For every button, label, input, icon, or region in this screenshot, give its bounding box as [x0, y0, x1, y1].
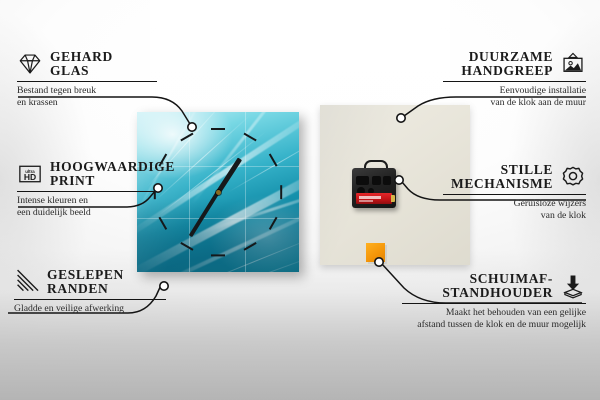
callout-divider — [17, 81, 157, 82]
callout-description: Intense kleuren en een duidelijk beeld — [17, 195, 157, 220]
callout-gehard-glas: GEHARD GLAS Bestand tegen breuk en krass… — [17, 50, 157, 110]
callout-schuimaf-standhouder: SCHUIMAF- STANDHOUDER Maakt het behouden… — [402, 272, 586, 332]
gear-icon — [560, 164, 586, 190]
callout-geslepen-randen: GESLEPEN RANDEN Gladde en veilige afwerk… — [14, 268, 166, 315]
callout-title-line1: GESLEPEN — [47, 268, 124, 282]
callout-titles: SCHUIMAF- STANDHOUDER — [442, 272, 553, 300]
callout-divider — [443, 81, 586, 82]
battery-label-stripe — [359, 196, 381, 199]
callout-title-line2: MECHANISME — [451, 177, 553, 191]
foam-spacer-icon — [560, 273, 586, 299]
mechanism-detail — [372, 176, 381, 185]
callout-description: Geruisloze wijzers van de klok — [443, 198, 586, 223]
clock-tick — [280, 185, 282, 199]
mechanism-detail — [356, 176, 369, 185]
callout-header: STILLE MECHANISME — [443, 163, 586, 191]
glass-wall-clock — [137, 112, 299, 272]
clock-center-hub — [216, 190, 221, 195]
callout-description: Bestand tegen breuk en krassen — [17, 85, 157, 110]
callout-title-line1: DUURZAME — [461, 50, 553, 64]
callout-description: Gladde en veilige afwerking — [14, 303, 166, 315]
callout-description: Maakt het behouden van een gelijke afsta… — [402, 307, 586, 332]
callout-title-line2: HANDGREEP — [461, 64, 553, 78]
clock-tick — [211, 128, 225, 130]
callout-title-line1: STILLE — [451, 163, 553, 177]
callout-stille-mechanisme: STILLE MECHANISME Geruisloze wijzers van… — [443, 163, 586, 223]
foam-spacer-pad — [366, 243, 385, 262]
callout-title-line2: GLAS — [50, 64, 113, 78]
callout-titles: DUURZAME HANDGREEP — [461, 50, 553, 78]
diamond-icon — [17, 51, 43, 77]
callout-title-line2: PRINT — [50, 174, 175, 188]
callout-title-line1: HOOGWAARDIGE — [50, 160, 175, 174]
mechanism-detail — [383, 176, 391, 185]
clock-tick — [211, 254, 225, 256]
callout-header: SCHUIMAF- STANDHOUDER — [402, 272, 586, 300]
aa-battery — [356, 193, 392, 204]
callout-header: GESLEPEN RANDEN — [14, 268, 166, 296]
callout-divider — [17, 191, 157, 192]
callout-title-line2: RANDEN — [47, 282, 124, 296]
ultra-hd-icon: ultra HD — [17, 161, 43, 187]
callout-description: Eenvoudige installatie van de klok aan d… — [443, 85, 586, 110]
callout-divider — [402, 303, 586, 304]
callout-header: GEHARD GLAS — [17, 50, 157, 78]
callout-title-line1: SCHUIMAF- — [442, 272, 553, 286]
polished-edges-icon — [14, 269, 40, 295]
infographic-canvas: GEHARD GLAS Bestand tegen breuk en krass… — [0, 0, 600, 400]
callout-title-line2: STANDHOUDER — [442, 286, 553, 300]
callout-divider — [14, 299, 166, 300]
callout-hoogwaardige-print: ultra HD HOOGWAARDIGE PRINT Intense kleu… — [17, 160, 157, 220]
battery-label-stripe — [359, 200, 373, 202]
callout-divider — [443, 194, 586, 195]
callout-titles: STILLE MECHANISME — [451, 163, 553, 191]
ultra-hd-icon-bottom-text: HD — [24, 172, 36, 182]
callout-titles: HOOGWAARDIGE PRINT — [50, 160, 175, 188]
battery-terminal — [391, 195, 395, 202]
picture-hanger-icon — [560, 51, 586, 77]
callout-header: ultra HD HOOGWAARDIGE PRINT — [17, 160, 157, 188]
callout-duurzame-handgreep: DUURZAME HANDGREEP Eenvoudige installati… — [443, 50, 586, 110]
callout-title-line1: GEHARD — [50, 50, 113, 64]
callout-titles: GESLEPEN RANDEN — [47, 268, 124, 296]
callout-header: DUURZAME HANDGREEP — [443, 50, 586, 78]
callout-titles: GEHARD GLAS — [50, 50, 113, 78]
